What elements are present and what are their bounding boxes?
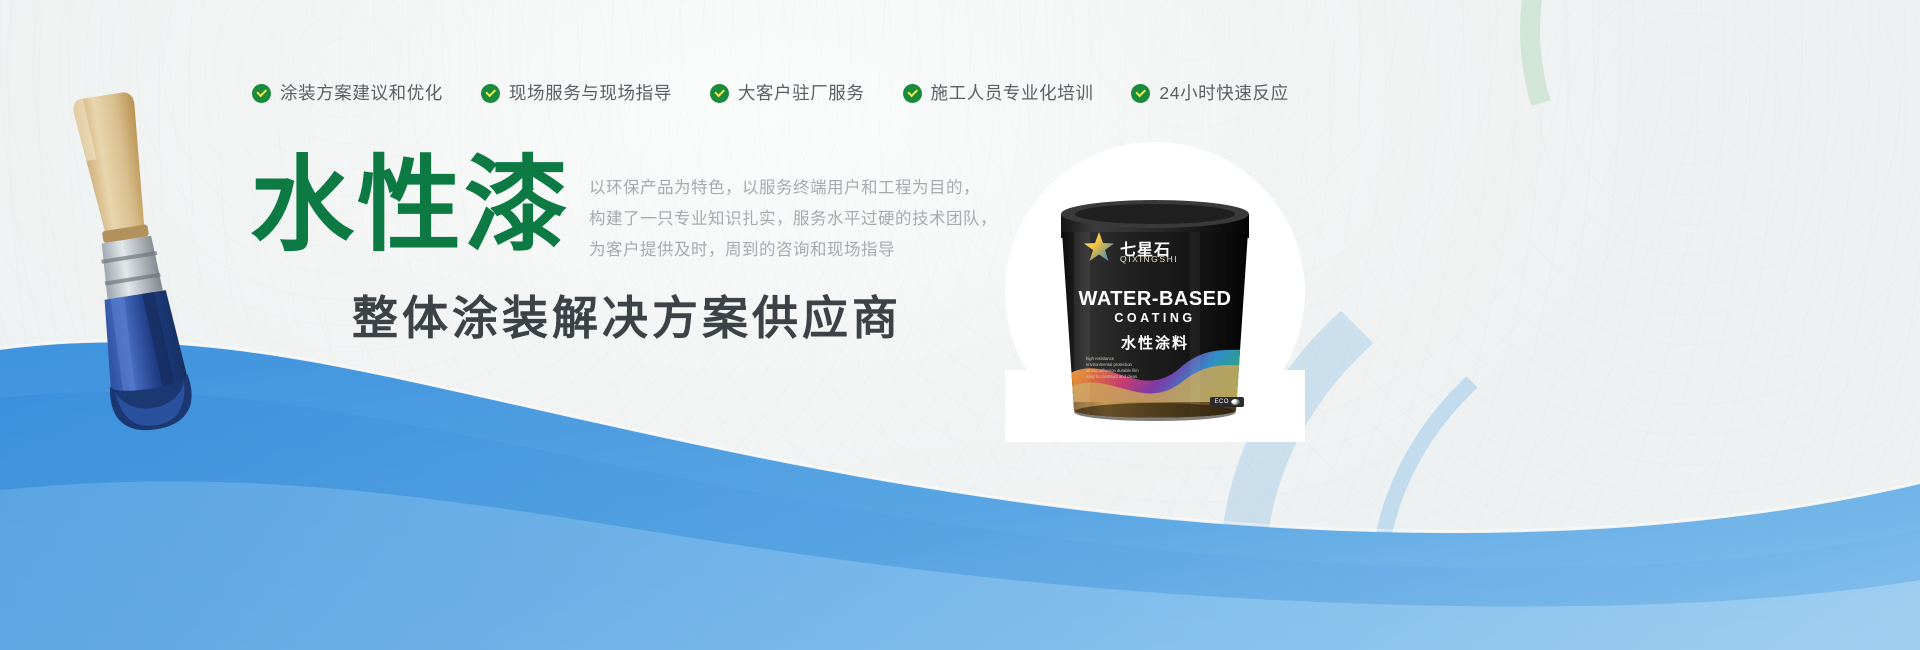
feature-label: 24小时快速反应 [1159,85,1288,103]
check-circle-icon [252,84,271,103]
paint-bucket-product: 七星石 QIXINGSHI WATER-BASED COATING 水性涂料 h… [1040,196,1270,431]
paint-brush-illustration [52,86,232,526]
subheadline: 整体涂装解决方案供应商 [352,282,902,348]
feature-item: 大客户驻厂服务 [710,84,865,103]
feature-label: 大客户驻厂服务 [738,85,865,103]
feature-item: 涂装方案建议和优化 [252,84,443,103]
feature-label: 施工人员专业化培训 [931,85,1094,103]
check-circle-icon [710,84,729,103]
feature-label: 现场服务与现场指导 [509,85,672,103]
check-circle-icon [481,84,500,103]
feature-list: 涂装方案建议和优化 现场服务与现场指导 大客户驻厂服务 施工人员专业化培训 24… [252,84,1289,103]
check-circle-icon [903,84,922,103]
blue-wave-decoration [0,230,1920,650]
promo-banner: 七星石 QIXINGSHI WATER-BASED COATING 水性涂料 h… [0,0,1920,650]
headline-block: 水性漆 以环保产品为特色，以服务终端用户和工程为目的， 构建了一只专业知识扎实，… [250,158,997,266]
description-paragraph: 以环保产品为特色，以服务终端用户和工程为目的， 构建了一只专业知识扎实，服务水平… [589,173,997,266]
page-title: 水性漆 [250,158,571,256]
description-line-3: 为客户提供及时，周到的咨询和现场指导 [589,235,997,266]
description-line-2: 构建了一只专业知识扎实，服务水平过硬的技术团队， [589,204,997,235]
feature-item: 现场服务与现场指导 [481,84,672,103]
feature-item: 24小时快速反应 [1131,84,1288,103]
feature-item: 施工人员专业化培训 [903,84,1094,103]
check-circle-icon [1131,84,1150,103]
description-line-1: 以环保产品为特色，以服务终端用户和工程为目的， [589,173,997,204]
feature-label: 涂装方案建议和优化 [280,85,443,103]
